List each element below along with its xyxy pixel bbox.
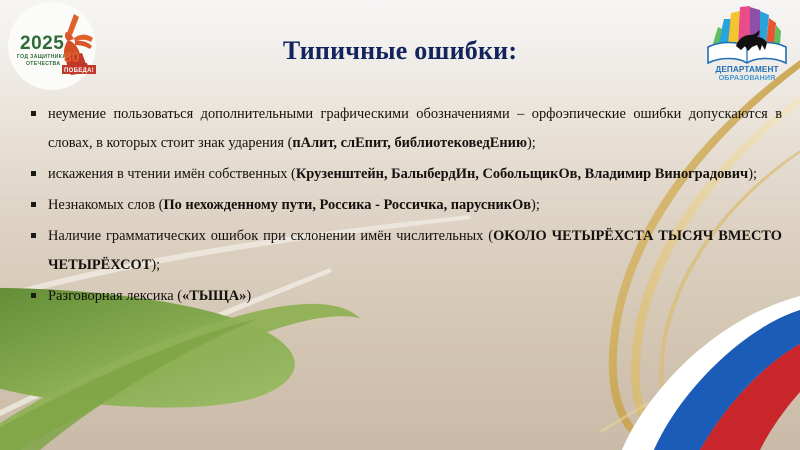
green-ribbon-tail bbox=[0, 318, 260, 450]
flag-ribbon-white bbox=[622, 296, 800, 450]
green-ribbon-lower bbox=[0, 304, 360, 450]
body-text: ); bbox=[748, 166, 757, 182]
bullet-list: неумение пользоваться дополнительными гр… bbox=[26, 100, 782, 313]
body-text: Незнакомых слов ( bbox=[48, 197, 163, 213]
slide-title: Типичные ошибки: bbox=[0, 36, 800, 66]
emphasis-text: Крузенштейн, БалыбердИн, СобольщикОв, Вл… bbox=[296, 166, 748, 182]
flag-ribbon-red bbox=[700, 344, 800, 450]
list-item-colloquial: Разговорная лексика («ТЫЩА») bbox=[26, 282, 782, 311]
emphasis-text: «ТЫЩА» bbox=[182, 288, 246, 304]
list-item-graphic-marks: неумение пользоваться дополнительными гр… bbox=[26, 100, 782, 158]
gold-hairline-straight bbox=[648, 352, 800, 423]
flag-ribbon-blue bbox=[654, 310, 800, 450]
body-text: ); bbox=[527, 135, 536, 151]
body-text: искажения в чтении имён собственных ( bbox=[48, 166, 296, 182]
body-text: ) bbox=[246, 288, 251, 304]
emphasis-text: пАлит, слЕпит, библиотековедЕнию bbox=[292, 135, 527, 151]
body-text: Наличие грамматических ошибок при склоне… bbox=[48, 228, 493, 244]
gold-hairline-straight-2 bbox=[600, 312, 800, 433]
department-line2: ОБРАЗОВАНИЯ bbox=[719, 73, 776, 82]
list-item-numerals: Наличие грамматических ошибок при склоне… bbox=[26, 222, 782, 280]
body-text: ); bbox=[151, 257, 160, 273]
body-text: ); bbox=[531, 197, 540, 213]
list-item-proper-names: искажения в чтении имён собственных (Кру… bbox=[26, 160, 782, 189]
list-item-unfamiliar-words: Незнакомых слов (По нехожденному пути, Р… bbox=[26, 191, 782, 220]
logo-victory-text: ПОБЕДА! bbox=[64, 68, 94, 74]
emphasis-text: По нехожденному пути, Россика - Россичка… bbox=[163, 197, 531, 213]
presentation-slide: 2025 ГОД ЗАЩИТНИКА ОТЕЧЕСТВА 80 ПОБЕДА! bbox=[0, 0, 800, 450]
body-text: Разговорная лексика ( bbox=[48, 288, 182, 304]
